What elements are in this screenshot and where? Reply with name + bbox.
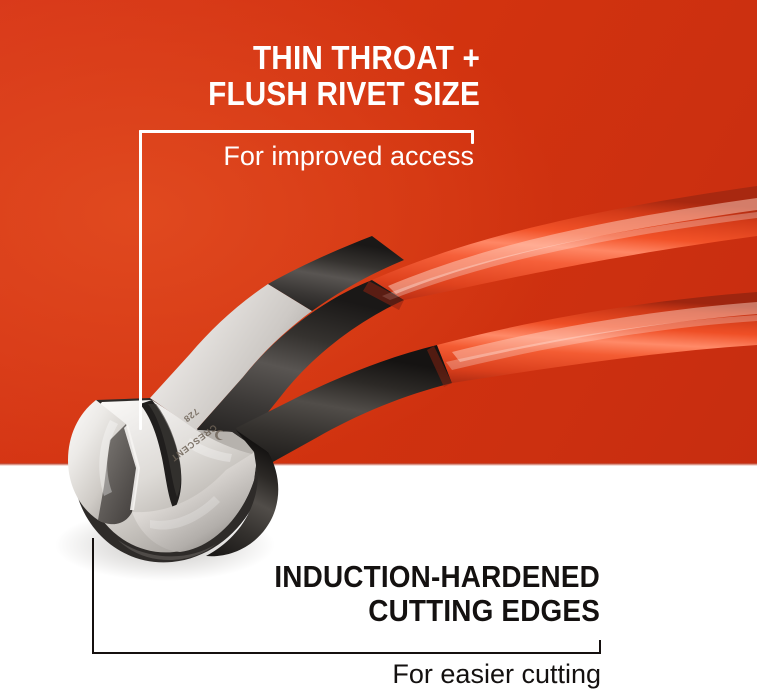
callout-induction-hardened-subtext: For easier cutting	[230, 658, 601, 691]
product-feature-graphic: CRESCENT 728 THIN THROAT + FLUSH RIVET S…	[0, 0, 757, 700]
callout-induction-hardened-headline-line2: CUTTING EDGES	[368, 593, 600, 628]
callout-thin-throat-leader-vertical	[139, 130, 142, 430]
callout-thin-throat-leader-horizontal	[139, 130, 474, 133]
callout-induction-hardened-headline: INDUCTION-HARDENED CUTTING EDGES	[222, 560, 600, 628]
callout-thin-throat-subtext: For improved access	[120, 140, 474, 173]
callout-thin-throat-headline: THIN THROAT + FLUSH RIVET SIZE	[138, 40, 480, 112]
callout-induction-hardened-headline-line1: INDUCTION-HARDENED	[274, 559, 600, 594]
callout-induction-hardened-leader-end-tick	[599, 640, 601, 654]
callout-induction-hardened-leader-horizontal	[92, 652, 601, 654]
callout-thin-throat-headline-line1: THIN THROAT +	[253, 39, 480, 76]
callout-induction-hardened-leader-vertical	[92, 538, 94, 654]
callout-thin-throat-headline-line2: FLUSH RIVET SIZE	[208, 75, 480, 112]
hero-panel-edge	[0, 463, 757, 466]
